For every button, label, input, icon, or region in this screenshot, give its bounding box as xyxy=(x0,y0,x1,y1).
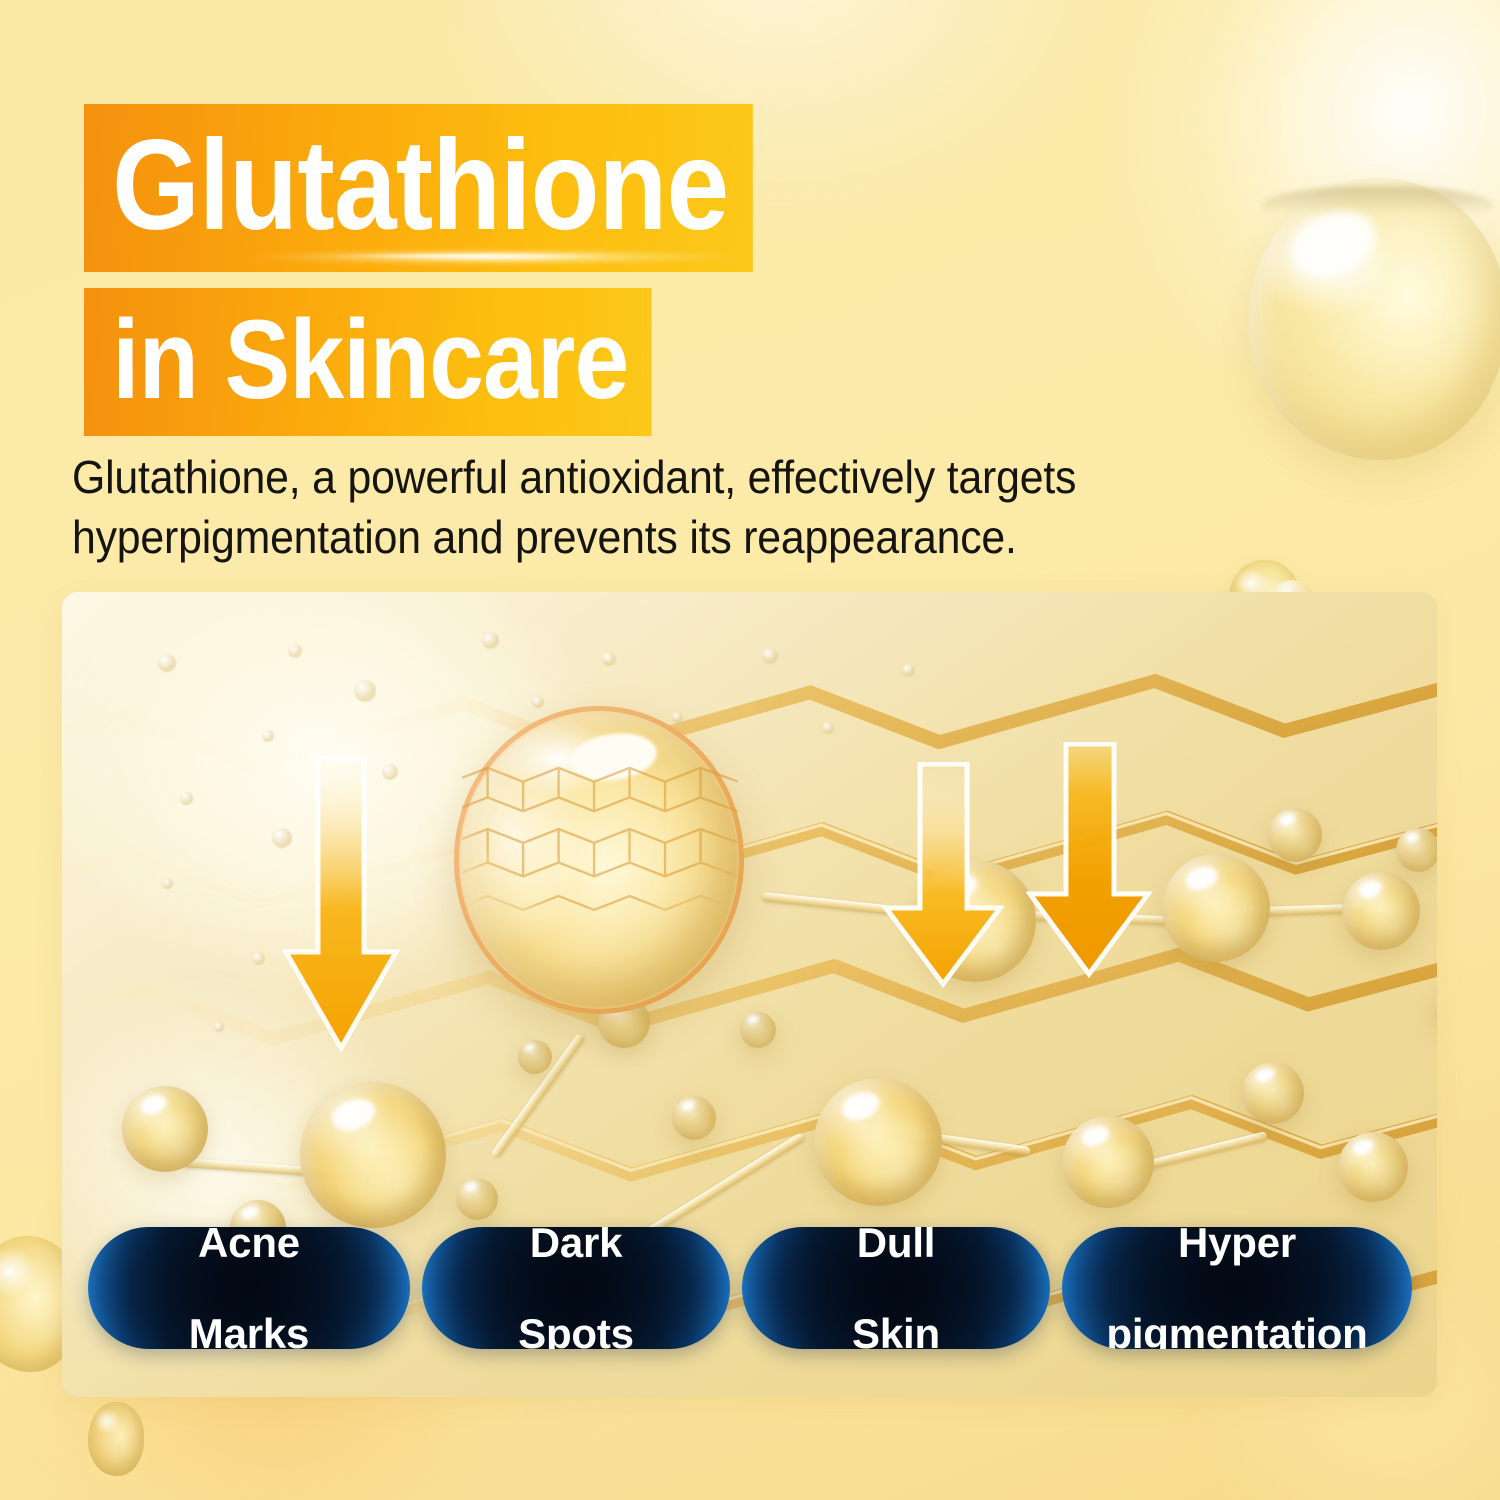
bubble-speck xyxy=(354,680,376,702)
subtitle-text: Glutathione, a powerful antioxidant, eff… xyxy=(72,448,1216,568)
badge-line-2: Spots xyxy=(518,1311,634,1349)
molecule-sphere xyxy=(1062,1116,1154,1208)
badge-line-2: pigmentation xyxy=(1106,1311,1367,1349)
page-title: Glutathione in Skincare xyxy=(84,104,844,436)
bubble-speck xyxy=(214,1022,224,1032)
serum-droplet-rim xyxy=(1262,186,1494,226)
headline-line-1: Glutathione xyxy=(84,104,753,272)
badge-line-1: Hyper xyxy=(1106,1227,1367,1265)
badge-line-1: Dull xyxy=(852,1227,940,1265)
badge-line-1: Acne xyxy=(189,1227,309,1265)
penetration-arrow-2-icon xyxy=(882,762,1004,988)
bubble-speck xyxy=(902,664,915,677)
badge-dark-spots[interactable]: Dark Spots xyxy=(422,1227,730,1349)
bubble-speck xyxy=(482,632,499,649)
serum-droplet-bottom-left-2-icon xyxy=(88,1402,144,1476)
headline-light-streak-core xyxy=(300,252,720,260)
molecule-sphere xyxy=(1268,808,1322,862)
penetration-arrow-3-icon xyxy=(1026,742,1152,978)
concern-badge-row: Acne Marks Dark Spots Dull Skin Hyper pi… xyxy=(88,1227,1418,1349)
molecule-sphere xyxy=(1338,1132,1408,1202)
bubble-speck xyxy=(262,730,274,742)
bubble-speck xyxy=(822,722,834,734)
badge-acne-marks[interactable]: Acne Marks xyxy=(88,1227,410,1349)
badge-line-2: Marks xyxy=(189,1311,309,1349)
bubble-speck xyxy=(602,652,616,666)
molecule-sphere xyxy=(518,1040,552,1074)
hero-glutathione-sphere xyxy=(454,706,744,1014)
molecule-sphere xyxy=(1242,1062,1304,1124)
headline-line-2: in Skincare xyxy=(84,288,651,436)
molecule-sphere xyxy=(300,1082,446,1228)
badge-line-1: Dark xyxy=(518,1227,634,1265)
bubble-speck xyxy=(252,952,265,965)
molecule-sphere xyxy=(740,1012,776,1048)
molecule-sphere xyxy=(672,1096,716,1140)
molecule-sphere xyxy=(1162,854,1270,962)
bubble-speck xyxy=(288,644,302,658)
bubble-speck xyxy=(158,654,176,672)
badge-line-2: Skin xyxy=(852,1311,940,1349)
penetration-arrow-1-icon xyxy=(282,756,400,1052)
molecule-sphere xyxy=(1342,872,1420,950)
molecule-sphere xyxy=(1396,828,1437,872)
badge-dull-skin[interactable]: Dull Skin xyxy=(742,1227,1050,1349)
bubble-speck xyxy=(672,712,683,723)
molecule-sphere xyxy=(456,1178,498,1220)
molecule-sphere xyxy=(122,1086,208,1172)
bubble-speck xyxy=(532,696,544,708)
bubble-speck xyxy=(180,792,193,805)
bubble-speck xyxy=(162,878,173,889)
molecule-sphere xyxy=(814,1078,942,1206)
bubble-speck xyxy=(762,648,778,664)
badge-hyperpigmentation[interactable]: Hyper pigmentation xyxy=(1062,1227,1412,1349)
